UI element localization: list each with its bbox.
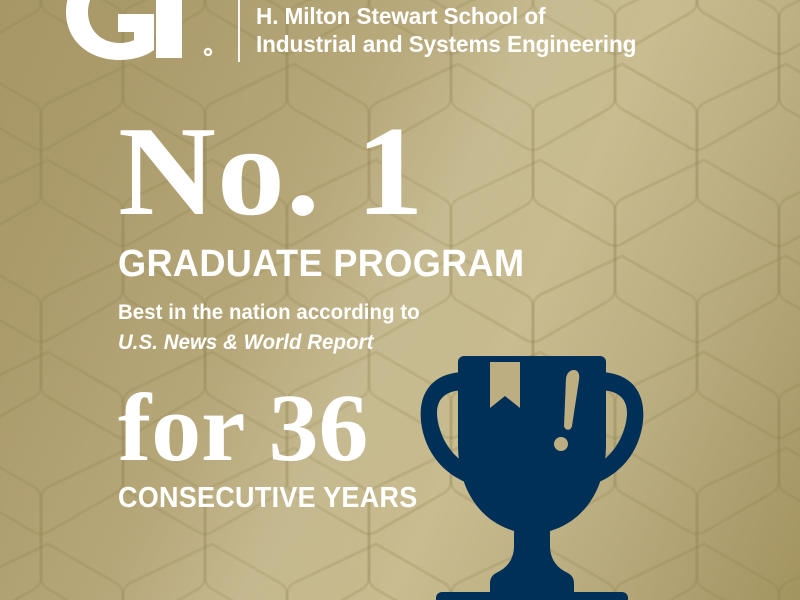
lockup-divider	[238, 0, 240, 62]
rank-headline: No. 1	[118, 112, 712, 230]
school-name-line-2: Industrial and Systems Engineering	[256, 30, 636, 58]
gt-interlocking-logo-icon	[58, 0, 218, 74]
brand-lockup-header: H. Milton Stewart School of Industrial a…	[0, 0, 800, 72]
school-name: H. Milton Stewart School of Industrial a…	[256, 2, 636, 58]
attribution-line: Best in the nation according to	[118, 301, 420, 324]
poster-canvas: H. Milton Stewart School of Industrial a…	[0, 0, 800, 600]
program-subhead: GRADUATE PROGRAM	[118, 244, 650, 284]
school-name-line-1: H. Milton Stewart School of	[256, 2, 636, 30]
trophy-icon	[408, 348, 656, 600]
